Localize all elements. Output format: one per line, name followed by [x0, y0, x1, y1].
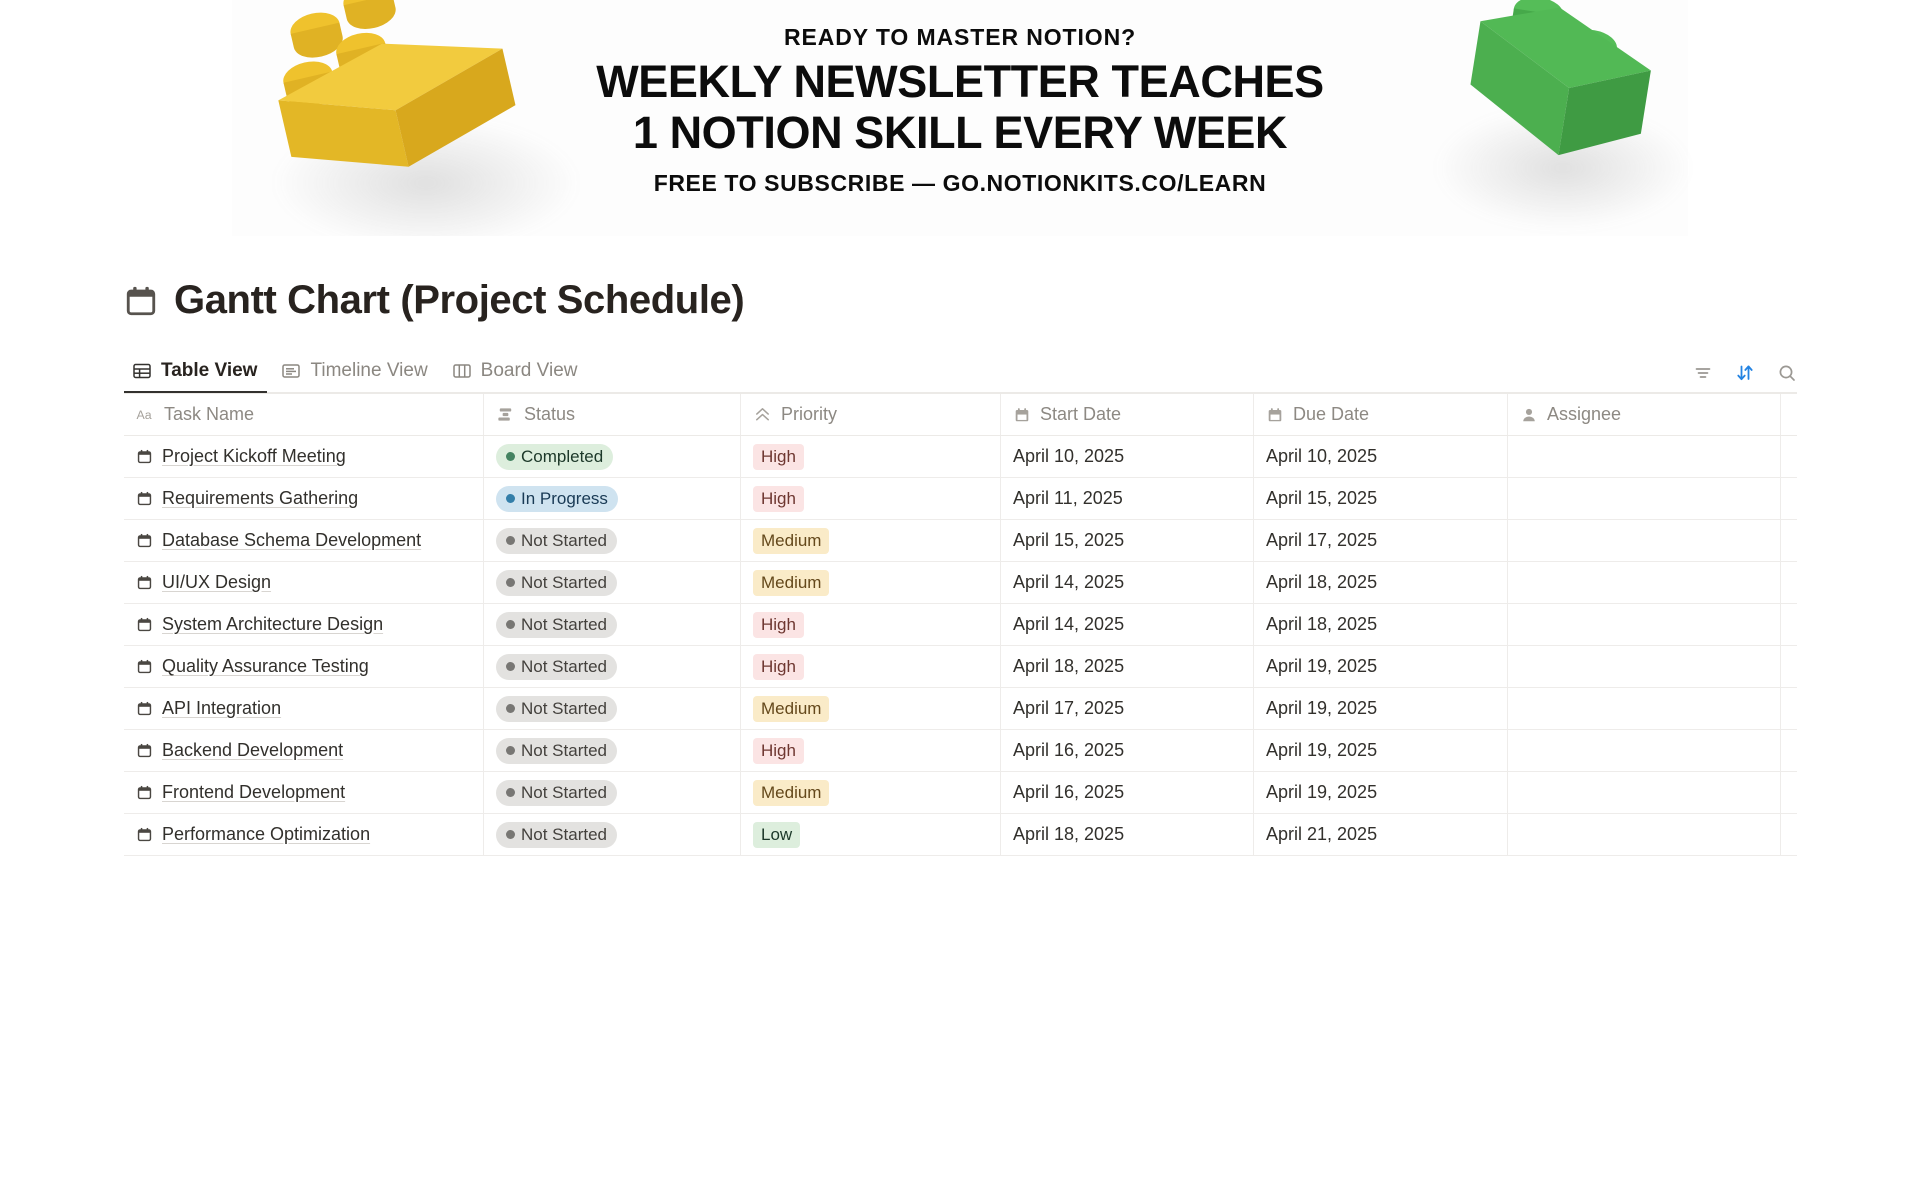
- cell-extra: [1781, 688, 1797, 729]
- cell-priority[interactable]: High: [741, 730, 1001, 771]
- cell-assignee[interactable]: [1508, 520, 1781, 561]
- task-name-label: Frontend Development: [162, 782, 345, 803]
- start-date-value: April 18, 2025: [1013, 824, 1124, 845]
- status-badge: Completed: [496, 444, 613, 470]
- status-dot-icon: [506, 452, 515, 461]
- cell-start-date[interactable]: April 18, 2025: [1001, 814, 1254, 855]
- banner-line-2: 1 NOTION SKILL EVERY WEEK: [0, 107, 1920, 158]
- cell-start-date[interactable]: April 16, 2025: [1001, 730, 1254, 771]
- cell-start-date[interactable]: April 11, 2025: [1001, 478, 1254, 519]
- cell-assignee[interactable]: [1508, 730, 1781, 771]
- status-dot-icon: [506, 536, 515, 545]
- due-date-value: April 15, 2025: [1266, 488, 1377, 509]
- cell-task-name[interactable]: Quality Assurance Testing: [124, 646, 484, 687]
- due-date-value: April 19, 2025: [1266, 782, 1377, 803]
- task-name-label: Requirements Gathering: [162, 488, 358, 509]
- priority-badge: High: [753, 486, 804, 512]
- task-name-label: Performance Optimization: [162, 824, 370, 845]
- cell-assignee[interactable]: [1508, 436, 1781, 477]
- cell-due-date[interactable]: April 21, 2025: [1254, 814, 1508, 855]
- cell-extra: [1781, 604, 1797, 645]
- status-badge: Not Started: [496, 738, 617, 764]
- table-row[interactable]: Requirements Gathering In Progress High …: [124, 478, 1797, 520]
- column-header-assignee-label: Assignee: [1547, 404, 1621, 425]
- calendar-icon: [136, 826, 153, 843]
- task-table: Aa Task Name Status Priority: [124, 393, 1797, 856]
- cell-due-date[interactable]: April 19, 2025: [1254, 772, 1508, 813]
- cell-priority[interactable]: Medium: [741, 520, 1001, 561]
- start-date-value: April 14, 2025: [1013, 614, 1124, 635]
- status-badge: Not Started: [496, 696, 617, 722]
- cell-status[interactable]: Not Started: [484, 814, 741, 855]
- cell-status[interactable]: Completed: [484, 436, 741, 477]
- column-header-due-date-label: Due Date: [1293, 404, 1369, 425]
- cell-extra: [1781, 562, 1797, 603]
- view-tab-bar: Table View Timeline View Board View: [124, 351, 1797, 393]
- cell-assignee[interactable]: [1508, 478, 1781, 519]
- task-name-label: Quality Assurance Testing: [162, 656, 369, 677]
- page-title: Gantt Chart (Project Schedule): [174, 278, 744, 323]
- calendar-icon: [136, 448, 153, 465]
- priority-badge: Low: [753, 822, 800, 848]
- status-badge: Not Started: [496, 654, 617, 680]
- cell-extra: [1781, 730, 1797, 771]
- cell-task-name[interactable]: API Integration: [124, 688, 484, 729]
- status-badge: Not Started: [496, 612, 617, 638]
- priority-badge: High: [753, 738, 804, 764]
- cell-assignee[interactable]: [1508, 772, 1781, 813]
- banner-line-1: WEEKLY NEWSLETTER TEACHES: [0, 56, 1920, 107]
- cell-start-date[interactable]: April 15, 2025: [1001, 520, 1254, 561]
- status-dot-icon: [506, 830, 515, 839]
- cell-priority[interactable]: Medium: [741, 562, 1001, 603]
- start-date-value: April 11, 2025: [1013, 488, 1123, 509]
- timeline-icon: [281, 361, 301, 381]
- column-header-assignee[interactable]: Assignee: [1508, 394, 1781, 435]
- table-row[interactable]: Database Schema Development Not Started …: [124, 520, 1797, 562]
- column-header-task-name[interactable]: Aa Task Name: [124, 394, 484, 435]
- status-badge: Not Started: [496, 570, 617, 596]
- cell-status[interactable]: Not Started: [484, 562, 741, 603]
- start-date-value: April 18, 2025: [1013, 656, 1124, 677]
- tab-table-view[interactable]: Table View: [124, 360, 267, 392]
- calendar-icon: [1266, 406, 1284, 424]
- svg-text:Aa: Aa: [136, 408, 151, 422]
- column-header-start-date-label: Start Date: [1040, 404, 1121, 425]
- cell-due-date[interactable]: April 18, 2025: [1254, 604, 1508, 645]
- priority-badge: High: [753, 612, 804, 638]
- cell-extra: [1781, 814, 1797, 855]
- start-date-value: April 16, 2025: [1013, 782, 1124, 803]
- column-header-due-date[interactable]: Due Date: [1254, 394, 1508, 435]
- board-icon: [452, 361, 472, 381]
- table-row[interactable]: Project Kickoff Meeting Completed High A…: [124, 436, 1797, 478]
- due-date-value: April 19, 2025: [1266, 698, 1377, 719]
- column-header-start-date[interactable]: Start Date: [1001, 394, 1254, 435]
- cell-start-date[interactable]: April 18, 2025: [1001, 646, 1254, 687]
- status-dot-icon: [506, 788, 515, 797]
- calendar-icon: [124, 284, 158, 318]
- due-date-value: April 10, 2025: [1266, 446, 1377, 467]
- table-body: Project Kickoff Meeting Completed High A…: [124, 436, 1797, 856]
- text-aa-icon: Aa: [136, 405, 155, 424]
- tab-board-view[interactable]: Board View: [444, 360, 588, 392]
- calendar-icon: [136, 784, 153, 801]
- calendar-icon: [136, 658, 153, 675]
- tab-board-view-label: Board View: [481, 360, 578, 382]
- due-date-value: April 18, 2025: [1266, 614, 1377, 635]
- column-header-status[interactable]: Status: [484, 394, 741, 435]
- cell-priority[interactable]: High: [741, 646, 1001, 687]
- task-name-label: Backend Development: [162, 740, 343, 761]
- cell-task-name[interactable]: Frontend Development: [124, 772, 484, 813]
- status-badge: Not Started: [496, 780, 617, 806]
- column-header-priority-label: Priority: [781, 404, 837, 425]
- status-badge: In Progress: [496, 486, 618, 512]
- calendar-icon: [136, 490, 153, 507]
- cell-status[interactable]: Not Started: [484, 730, 741, 771]
- chevrons-up-icon: [753, 405, 772, 424]
- tab-timeline-view-label: Timeline View: [310, 360, 427, 382]
- banner-kicker: READY TO MASTER NOTION?: [0, 22, 1920, 52]
- cell-due-date[interactable]: April 19, 2025: [1254, 646, 1508, 687]
- cell-due-date[interactable]: April 10, 2025: [1254, 436, 1508, 477]
- start-date-value: April 16, 2025: [1013, 740, 1124, 761]
- status-badge: Not Started: [496, 528, 617, 554]
- cell-assignee[interactable]: [1508, 814, 1781, 855]
- table-row[interactable]: Quality Assurance Testing Not Started Hi…: [124, 646, 1797, 688]
- cell-priority[interactable]: High: [741, 478, 1001, 519]
- cell-priority[interactable]: Medium: [741, 772, 1001, 813]
- due-date-value: April 19, 2025: [1266, 740, 1377, 761]
- cell-status[interactable]: Not Started: [484, 772, 741, 813]
- cell-start-date[interactable]: April 10, 2025: [1001, 436, 1254, 477]
- cell-assignee[interactable]: [1508, 688, 1781, 729]
- cell-due-date[interactable]: April 18, 2025: [1254, 562, 1508, 603]
- status-dot-icon: [506, 746, 515, 755]
- cell-task-name[interactable]: Database Schema Development: [124, 520, 484, 561]
- task-name-label: Project Kickoff Meeting: [162, 446, 346, 467]
- due-date-value: April 19, 2025: [1266, 656, 1377, 677]
- cell-task-name[interactable]: UI/UX Design: [124, 562, 484, 603]
- cell-status[interactable]: Not Started: [484, 646, 741, 687]
- cell-task-name[interactable]: Requirements Gathering: [124, 478, 484, 519]
- cell-priority[interactable]: High: [741, 604, 1001, 645]
- filter-icon[interactable]: [1693, 363, 1713, 383]
- cell-extra: [1781, 436, 1797, 477]
- status-badge: Not Started: [496, 822, 617, 848]
- priority-badge: High: [753, 654, 804, 680]
- status-dot-icon: [506, 662, 515, 671]
- start-date-value: April 14, 2025: [1013, 572, 1124, 593]
- status-dot-icon: [506, 578, 515, 587]
- task-name-label: Database Schema Development: [162, 530, 421, 551]
- sort-icon[interactable]: [1735, 363, 1755, 383]
- calendar-icon: [136, 742, 153, 759]
- calendar-icon: [136, 616, 153, 633]
- column-header-priority[interactable]: Priority: [741, 394, 1001, 435]
- cell-start-date[interactable]: April 14, 2025: [1001, 604, 1254, 645]
- cell-task-name[interactable]: System Architecture Design: [124, 604, 484, 645]
- cell-task-name[interactable]: Performance Optimization: [124, 814, 484, 855]
- priority-badge: Medium: [753, 780, 829, 806]
- cell-extra: [1781, 478, 1797, 519]
- task-name-label: System Architecture Design: [162, 614, 383, 635]
- column-header-task-name-label: Task Name: [164, 404, 254, 425]
- table-row[interactable]: Frontend Development Not Started Medium …: [124, 772, 1797, 814]
- search-icon[interactable]: [1777, 363, 1797, 383]
- cell-due-date[interactable]: April 17, 2025: [1254, 520, 1508, 561]
- table-toolbar: [1693, 363, 1797, 392]
- priority-badge: Medium: [753, 570, 829, 596]
- cell-status[interactable]: In Progress: [484, 478, 741, 519]
- cell-assignee[interactable]: [1508, 562, 1781, 603]
- table-row[interactable]: Backend Development Not Started High Apr…: [124, 730, 1797, 772]
- column-header-status-label: Status: [524, 404, 575, 425]
- tab-table-view-label: Table View: [161, 360, 257, 382]
- priority-badge: High: [753, 444, 804, 470]
- calendar-icon: [136, 532, 153, 549]
- cell-status[interactable]: Not Started: [484, 688, 741, 729]
- view-tabs: Table View Timeline View Board View: [124, 360, 588, 392]
- task-name-label: API Integration: [162, 698, 281, 719]
- banner-text-block: READY TO MASTER NOTION? WEEKLY NEWSLETTE…: [0, 22, 1920, 198]
- cell-start-date[interactable]: April 16, 2025: [1001, 772, 1254, 813]
- table-header-row: Aa Task Name Status Priority: [124, 394, 1797, 436]
- newsletter-banner: READY TO MASTER NOTION? WEEKLY NEWSLETTE…: [0, 0, 1920, 236]
- cell-start-date[interactable]: April 14, 2025: [1001, 562, 1254, 603]
- status-dot-icon: [506, 704, 515, 713]
- cell-task-name[interactable]: Backend Development: [124, 730, 484, 771]
- table-icon: [132, 361, 152, 381]
- calendar-icon: [136, 700, 153, 717]
- cell-assignee[interactable]: [1508, 604, 1781, 645]
- table-row[interactable]: System Architecture Design Not Started H…: [124, 604, 1797, 646]
- page-title-row: Gantt Chart (Project Schedule): [124, 278, 1920, 323]
- person-icon: [1520, 406, 1538, 424]
- column-header-add[interactable]: [1781, 394, 1797, 435]
- cell-assignee[interactable]: [1508, 646, 1781, 687]
- cell-priority[interactable]: Low: [741, 814, 1001, 855]
- due-date-value: April 17, 2025: [1266, 530, 1377, 551]
- table-row[interactable]: API Integration Not Started Medium April…: [124, 688, 1797, 730]
- priority-badge: Medium: [753, 696, 829, 722]
- table-row[interactable]: UI/UX Design Not Started Medium April 14…: [124, 562, 1797, 604]
- cell-status[interactable]: Not Started: [484, 520, 741, 561]
- cell-start-date[interactable]: April 17, 2025: [1001, 688, 1254, 729]
- cell-task-name[interactable]: Project Kickoff Meeting: [124, 436, 484, 477]
- table-row[interactable]: Performance Optimization Not Started Low…: [124, 814, 1797, 856]
- cell-due-date[interactable]: April 19, 2025: [1254, 730, 1508, 771]
- status-dot-icon: [506, 494, 515, 503]
- status-icon: [496, 405, 515, 424]
- cell-extra: [1781, 646, 1797, 687]
- cell-extra: [1781, 772, 1797, 813]
- status-dot-icon: [506, 620, 515, 629]
- cell-extra: [1781, 520, 1797, 561]
- banner-subline: FREE TO SUBSCRIBE — GO.NOTIONKITS.CO/LEA…: [0, 168, 1920, 198]
- cell-status[interactable]: Not Started: [484, 604, 741, 645]
- tab-timeline-view[interactable]: Timeline View: [273, 360, 437, 392]
- page-content: Gantt Chart (Project Schedule) Table Vie…: [0, 278, 1920, 856]
- start-date-value: April 15, 2025: [1013, 530, 1124, 551]
- calendar-icon: [1013, 406, 1031, 424]
- task-name-label: UI/UX Design: [162, 572, 271, 593]
- due-date-value: April 18, 2025: [1266, 572, 1377, 593]
- cell-due-date[interactable]: April 15, 2025: [1254, 478, 1508, 519]
- calendar-icon: [136, 574, 153, 591]
- start-date-value: April 10, 2025: [1013, 446, 1124, 467]
- cell-priority[interactable]: High: [741, 436, 1001, 477]
- due-date-value: April 21, 2025: [1266, 824, 1377, 845]
- cell-due-date[interactable]: April 19, 2025: [1254, 688, 1508, 729]
- cell-priority[interactable]: Medium: [741, 688, 1001, 729]
- start-date-value: April 17, 2025: [1013, 698, 1124, 719]
- priority-badge: Medium: [753, 528, 829, 554]
